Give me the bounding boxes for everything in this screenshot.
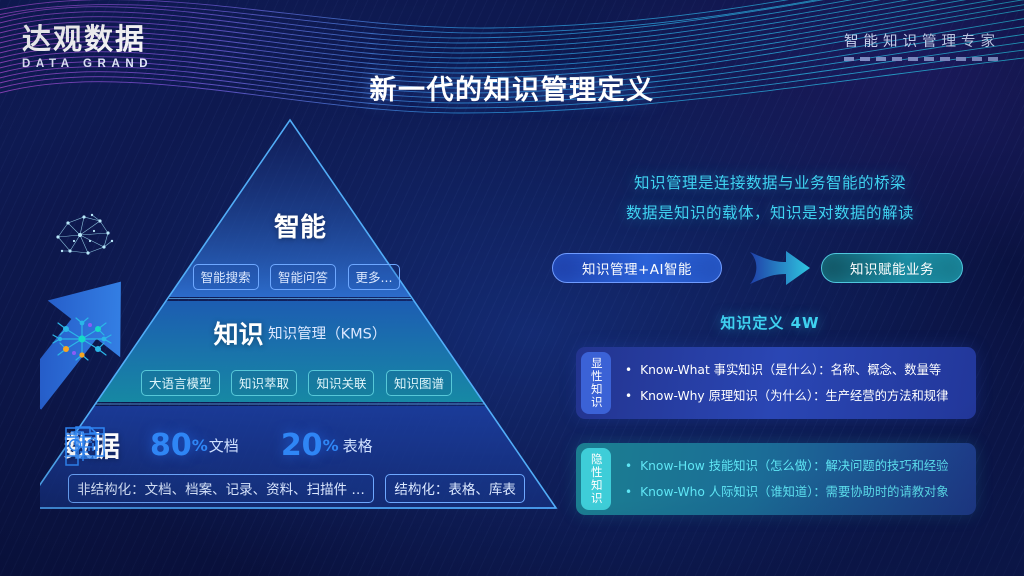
lead-line-1: 知识管理是连接数据与业务智能的桥梁 — [560, 168, 980, 198]
dashboard-table-icon — [64, 425, 106, 459]
chip-knowledge-extraction[interactable]: 知识萃取 — [231, 370, 297, 396]
chip-llm[interactable]: 大语言模型 — [141, 370, 220, 396]
bullet-text: Know-How 技能知识（怎么做）：解决问题的技巧和经验 — [640, 453, 948, 479]
chip-knowledge-graph[interactable]: 知识图谱 — [386, 370, 452, 396]
stat-label-documents: 文档 — [209, 435, 239, 456]
stat-documents: 80 % 文档 — [142, 428, 239, 463]
card-tacit-knowledge: 隐性知识 • Know-How 技能知识（怎么做）：解决问题的技巧和经验 • K… — [576, 443, 976, 515]
bullet-text: Know-Why 原理知识（为什么）：生产经营的方法和规律 — [640, 383, 948, 409]
pill-knowledge-empowers-business[interactable]: 知识赋能业务 — [821, 253, 963, 283]
slide-canvas: 达观数据 DATA GRAND 智能知识管理专家 新一代的知识管理定义 — [0, 0, 1024, 576]
bullet-dot-icon: • — [625, 479, 632, 505]
bullet-dot-icon: • — [625, 383, 632, 409]
stat-unit-tables: % — [323, 436, 339, 455]
tier-chips-data: 非结构化：文档、档案、记录、资料、扫描件 … 结构化：表格、库表 — [40, 474, 560, 503]
page-title: 新一代的知识管理定义 — [0, 68, 1024, 107]
tagline-dashed-rule — [844, 57, 1000, 61]
lead-line-2: 数据是知识的载体，知识是对数据的解读 — [560, 198, 980, 228]
card-tab-explicit: 显性知识 — [581, 352, 611, 414]
knowledge-pyramid: 智能 智能搜索 智能问答 更多... — [40, 112, 560, 512]
tier-chips-knowledge: 大语言模型 知识萃取 知识关联 知识图谱 — [40, 370, 560, 396]
bullet-know-why: • Know-Why 原理知识（为什么）：生产经营的方法和规律 — [625, 383, 968, 409]
brain-network-icon — [46, 207, 120, 261]
stat-value-documents: 80 — [150, 428, 192, 463]
card-tab-label-tacit: 隐性知识 — [589, 453, 603, 505]
tier-subtitle-kms: 知识管理（KMS） — [268, 327, 386, 343]
brand-logo: 达观数据 DATA GRAND — [22, 24, 153, 70]
stat-label-tables: 表格 — [343, 435, 373, 456]
tier-chips-intelligence: 智能搜索 智能问答 更多... — [40, 264, 560, 290]
card-tab-label-explicit: 显性知识 — [589, 357, 603, 409]
tier-label-knowledge: 知识 — [214, 320, 264, 349]
chip-structured[interactable]: 结构化：表格、库表 — [385, 474, 525, 503]
tier-label-intelligence: 智能 — [274, 213, 326, 243]
logo-title-cn: 达观数据 — [22, 24, 153, 54]
section-title-4w: 知识定义 4W — [560, 312, 980, 333]
stat-unit-documents: % — [192, 436, 208, 455]
bullet-know-what: • Know-What 事实知识（是什么）：名称、概念、数量等 — [625, 357, 968, 383]
bullet-text: Know-What 事实知识（是什么）：名称、概念、数量等 — [640, 357, 941, 383]
bullet-know-who: • Know-Who 人际知识（谁知道）：需要协助时的请教对象 — [625, 479, 968, 505]
tagline-text: 智能知识管理专家 — [844, 30, 1000, 51]
knowledge-graph-icon — [46, 315, 118, 363]
chip-intelligent-search[interactable]: 智能搜索 — [193, 264, 259, 290]
bullet-dot-icon: • — [625, 357, 632, 383]
chip-knowledge-linking[interactable]: 知识关联 — [308, 370, 374, 396]
right-arrow-icon — [750, 248, 812, 288]
card-body-explicit: • Know-What 事实知识（是什么）：名称、概念、数量等 • Know-W… — [611, 347, 976, 419]
stat-tables: 20 % 表格 — [273, 428, 373, 463]
pill-knowledge-ai[interactable]: 知识管理+AI智能 — [552, 253, 722, 283]
chip-intelligent-qa[interactable]: 智能问答 — [270, 264, 336, 290]
card-explicit-knowledge: 显性知识 • Know-What 事实知识（是什么）：名称、概念、数量等 • K… — [576, 347, 976, 419]
bullet-text: Know-Who 人际知识（谁知道）：需要协助时的请教对象 — [640, 479, 949, 505]
chip-unstructured[interactable]: 非结构化：文档、档案、记录、资料、扫描件 … — [68, 474, 374, 503]
card-body-tacit: • Know-How 技能知识（怎么做）：解决问题的技巧和经验 • Know-W… — [611, 443, 976, 515]
tagline-block: 智能知识管理专家 — [844, 30, 1000, 61]
bullet-know-how: • Know-How 技能知识（怎么做）：解决问题的技巧和经验 — [625, 453, 968, 479]
stat-value-tables: 20 — [281, 428, 323, 463]
bullet-dot-icon: • — [625, 453, 632, 479]
card-tab-tacit: 隐性知识 — [581, 448, 611, 510]
chip-more[interactable]: 更多... — [348, 264, 401, 290]
